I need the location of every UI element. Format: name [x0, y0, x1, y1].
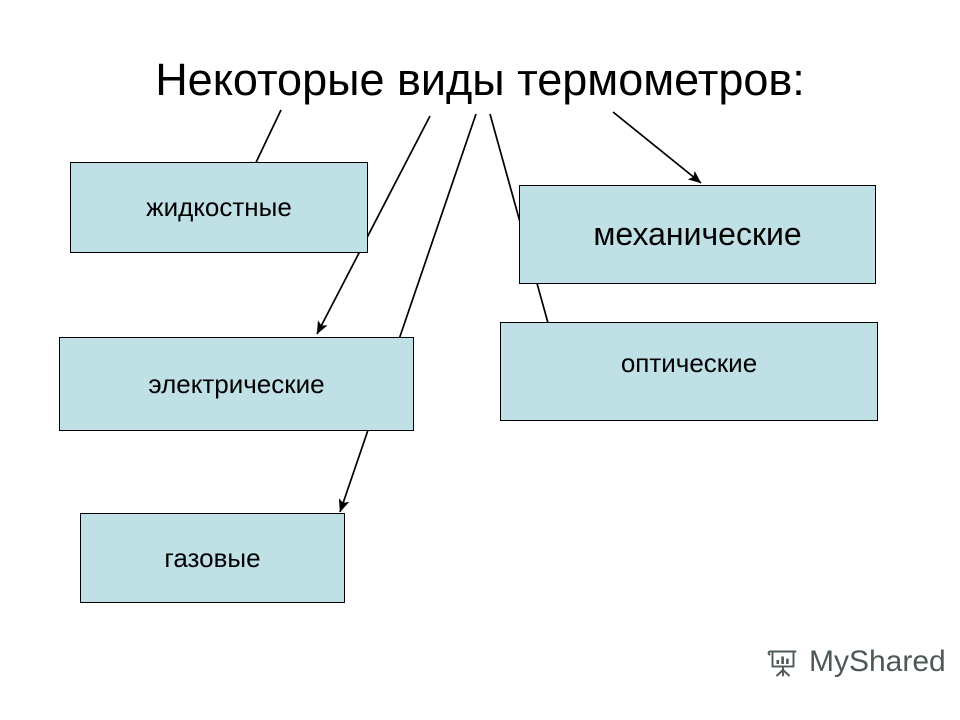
node-optical-label: оптические — [621, 349, 757, 378]
node-electric-thermometers: электрические — [59, 337, 414, 431]
node-liquid-label: жидкостные — [146, 193, 292, 222]
page-title: Некоторые виды термометров: — [0, 54, 960, 106]
node-electric-label: электрические — [148, 370, 324, 399]
presentation-chart-icon — [766, 645, 800, 679]
watermark-text: MyShared — [809, 645, 946, 679]
arrow-title-to-mechanical — [613, 112, 701, 183]
node-liquid-thermometers: жидкостные — [70, 162, 368, 253]
node-mechanical-label: механические — [593, 217, 801, 252]
watermark: MyShared — [766, 645, 946, 679]
slide-canvas: Некоторые виды термометров: жидкостные м… — [0, 0, 960, 720]
node-optical-thermometers: оптические — [500, 322, 878, 421]
node-gas-label: газовые — [164, 544, 260, 573]
node-mechanical-thermometers: механические — [519, 185, 876, 284]
node-gas-thermometers: газовые — [80, 513, 345, 603]
